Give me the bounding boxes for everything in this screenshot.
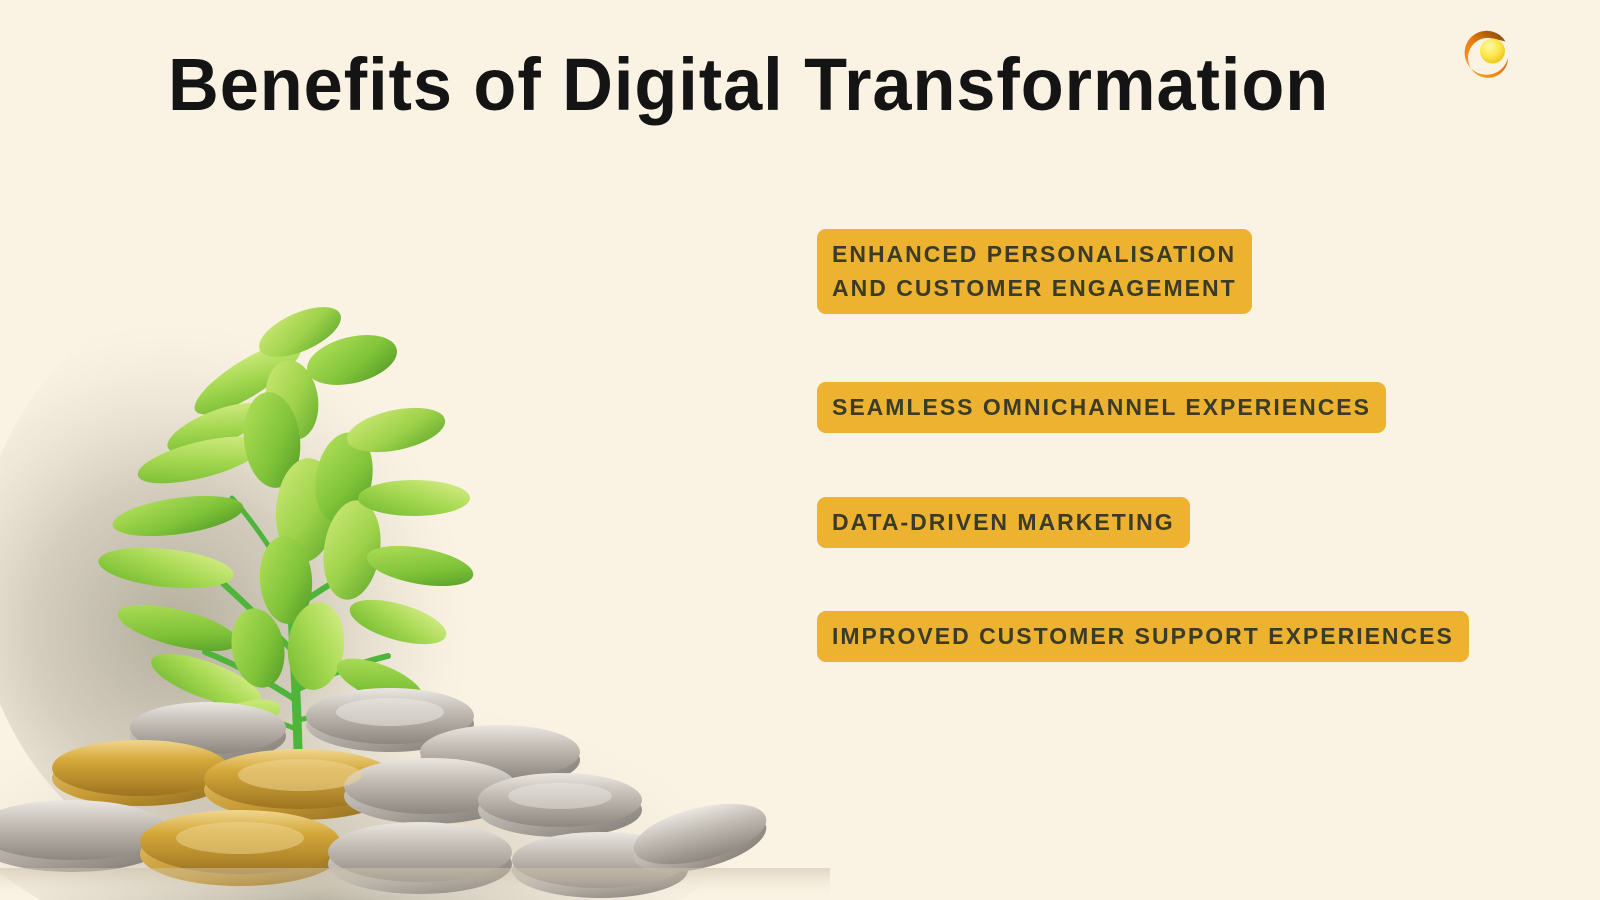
company-logo[interactable] <box>1461 28 1515 82</box>
benefit-item-3[interactable]: DATA-DRIVEN MARKETING <box>817 497 1190 548</box>
benefit-label-1: ENHANCED PERSONALISATION AND CUSTOMER EN… <box>817 229 1252 314</box>
benefit-label-2: SEAMLESS OMNICHANNEL EXPERIENCES <box>817 382 1386 433</box>
plant-growing-from-coins-image <box>0 250 830 900</box>
slide-root: Benefits of Digital Transformation <box>0 0 1600 900</box>
benefit-item-2[interactable]: SEAMLESS OMNICHANNEL EXPERIENCES <box>817 382 1386 433</box>
benefit-item-4[interactable]: IMPROVED CUSTOMER SUPPORT EXPERIENCES <box>817 611 1469 662</box>
benefit-item-1[interactable]: ENHANCED PERSONALISATION AND CUSTOMER EN… <box>817 229 1252 314</box>
benefit-label-3: DATA-DRIVEN MARKETING <box>817 497 1190 548</box>
page-title: Benefits of Digital Transformation <box>168 48 1329 122</box>
benefit-label-4: IMPROVED CUSTOMER SUPPORT EXPERIENCES <box>817 611 1469 662</box>
